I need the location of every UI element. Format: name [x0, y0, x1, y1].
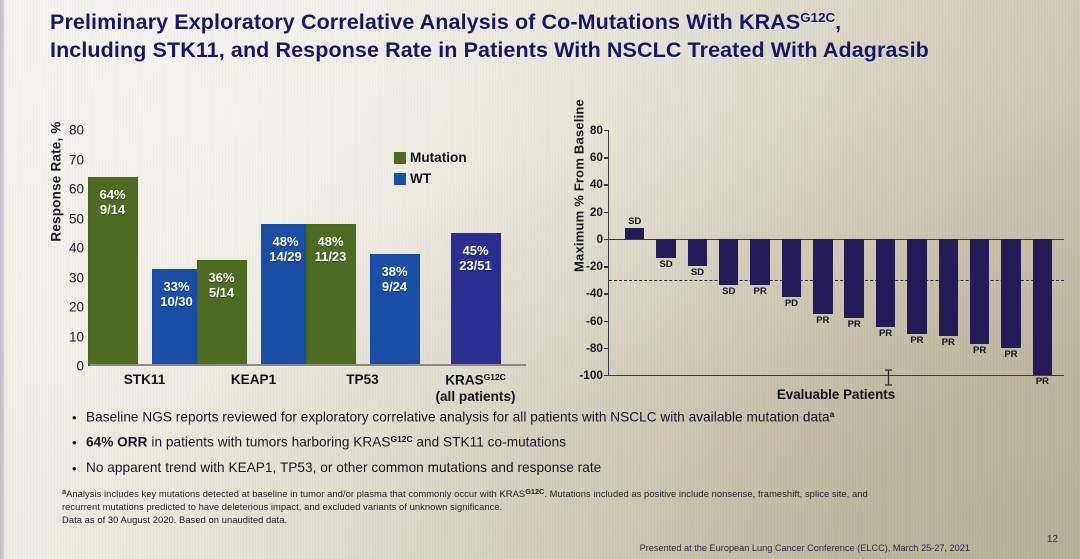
conference-attribution: Presented at the European Lung Cancer Co… [640, 543, 970, 553]
list-item: • Baseline NGS reports reviewed for expl… [72, 409, 1002, 426]
right-chart-x-axis-title: Evaluable Patients [608, 387, 1064, 402]
bullet-text-1: Baseline NGS reports reviewed for explor… [86, 409, 834, 426]
bar-value-label: 38%9/24 [370, 264, 420, 294]
right-chart-y-tick: 40 [590, 177, 603, 191]
bar-value-label: 48%14/29 [261, 234, 311, 264]
bullet-2-post: and STK11 co-mutations [413, 435, 567, 450]
footnote-line1-pre: Analysis includes key mutations detected… [66, 488, 525, 499]
waterfall-bar [970, 239, 989, 344]
slide-title: Preliminary Exploratory Correlative Anal… [50, 9, 1055, 65]
left-chart-x-label-kras: KRASG12C(all patients) [431, 372, 521, 406]
bar-kras-g12c-(all-patients)-all: 45%23/51 [451, 233, 501, 366]
bar-value-label: 48%11/23 [306, 234, 356, 264]
waterfall-bar [1001, 239, 1020, 348]
left-chart-legend: Mutation WT [394, 150, 467, 192]
right-chart-zero-line [609, 239, 1064, 240]
footnote-line1-superscript: G12C [525, 487, 544, 496]
title-line-1-superscript: G12C [800, 10, 835, 25]
legend-item-mutation: Mutation [394, 150, 467, 165]
left-chart-baseline [90, 364, 526, 366]
bar-value-label: 36%5/14 [197, 270, 247, 300]
left-chart-y-tick: 50 [40, 211, 84, 226]
right-chart-plot-area: 806040200-20-40-60-80-100SDSDSDSDPRPDPRP… [608, 130, 1064, 376]
bar-keap1-mutation: 36%5/14 [197, 260, 247, 366]
left-chart-y-tick: 70 [40, 152, 84, 167]
bullet-dot-icon: • [72, 460, 86, 477]
left-chart-y-tick: 80 [40, 123, 84, 138]
waterfall-bar [688, 239, 707, 266]
bar-value-label: 45%23/51 [451, 243, 501, 273]
waterfall-bar [813, 239, 832, 314]
right-chart-y-tick: 80 [590, 123, 603, 137]
bullet-1-superscript: a [830, 409, 835, 419]
bar-tp53-wt: 38%9/24 [370, 254, 420, 366]
bullet-2-superscript: G12C [391, 434, 413, 444]
right-chart-y-tick: -80 [586, 341, 603, 355]
footnote-line1-post: . Mutations included as positive include… [544, 488, 867, 499]
page-number: 12 [1047, 534, 1058, 545]
title-line-1-pre: Preliminary Exploratory Correlative Anal… [50, 10, 800, 34]
slide-canvas: Preliminary Exploratory Correlative Anal… [0, 0, 1080, 559]
bar-tp53-mutation: 48%11/23 [306, 224, 356, 366]
right-chart-y-tick: 60 [590, 150, 603, 164]
waterfall-bar [719, 239, 738, 285]
left-chart-y-tick: 20 [40, 300, 84, 315]
waterfall-chart: Maximum % From Baseline 806040200-20-40-… [548, 122, 1068, 404]
waterfall-response-label: PD [773, 298, 810, 309]
waterfall-response-label: SD [679, 267, 716, 278]
waterfall-bar [782, 239, 801, 298]
legend-swatch-wt [394, 173, 406, 185]
waterfall-response-label: PR [1024, 376, 1061, 387]
bullet-2-bold: 64% ORR [86, 435, 148, 450]
bar-value-label: 64%9/14 [88, 187, 138, 217]
bar-value-label: 33%10/30 [152, 279, 202, 309]
bullet-list: • Baseline NGS reports reviewed for expl… [72, 409, 1002, 485]
bullet-2-text: in patients with tumors harboring KRAS [148, 435, 391, 450]
list-item: • 64% ORR in patients with tumors harbor… [72, 434, 1002, 451]
i-beam-icon [884, 369, 893, 386]
legend-item-wt: WT [394, 171, 467, 186]
left-chart-y-tick: 10 [40, 329, 84, 344]
waterfall-bar [939, 239, 958, 336]
left-chart-y-tick: 40 [40, 241, 84, 256]
left-chart-y-tick: 60 [40, 182, 84, 197]
waterfall-response-label: SD [616, 216, 653, 227]
waterfall-bar [625, 228, 644, 239]
right-chart-y-tick: -40 [586, 286, 603, 300]
waterfall-bar [656, 239, 675, 258]
waterfall-bar [844, 239, 863, 318]
right-chart-reference-line [609, 280, 1064, 281]
text-cursor-icon [884, 369, 893, 386]
legend-swatch-mutation [394, 152, 406, 164]
waterfall-response-label: PR [741, 286, 778, 297]
title-line-2: Including STK11, and Response Rate in Pa… [50, 38, 929, 62]
waterfall-bar [876, 239, 895, 327]
bullet-dot-icon: • [72, 434, 86, 451]
bar-keap1-wt: 48%14/29 [261, 224, 311, 366]
legend-label-mutation: Mutation [410, 150, 467, 165]
right-chart-y-tick: -60 [586, 314, 603, 328]
bar-stk11-wt: 33%10/30 [152, 269, 202, 366]
right-chart-y-axis-title: Maximum % From Baseline [572, 71, 587, 301]
footnote: aAnalysis includes key mutations detecte… [62, 487, 1022, 527]
left-chart-x-label-tp53: TP53 [286, 372, 440, 389]
footnote-line2: recurrent mutations predicted to have de… [62, 501, 502, 512]
bullet-3-text: No apparent trend with KEAP1, TP53, or o… [86, 460, 601, 475]
bullet-dot-icon: • [72, 409, 86, 426]
legend-label-wt: WT [410, 171, 431, 186]
title-line-1-post: , [835, 10, 841, 34]
bullet-text-2: 64% ORR in patients with tumors harborin… [86, 434, 566, 451]
orr-bar-chart: Response Rate, % 64%9/1433%10/3036%5/144… [28, 122, 528, 402]
waterfall-bar [1033, 239, 1052, 375]
waterfall-bar [750, 239, 769, 285]
right-chart-y-tick: 0 [596, 232, 603, 246]
footnote-line3: Data as of 30 August 2020. Based on unau… [62, 514, 287, 525]
right-chart-y-tick: -20 [586, 259, 603, 273]
bullet-text-3: No apparent trend with KEAP1, TP53, or o… [86, 460, 601, 477]
waterfall-response-label: PR [992, 349, 1029, 360]
left-chart-y-tick: 30 [40, 270, 84, 285]
right-chart-y-tick: 20 [590, 205, 603, 219]
waterfall-bar [907, 239, 926, 334]
list-item: • No apparent trend with KEAP1, TP53, or… [72, 460, 1002, 477]
slide-left-edge [0, 0, 5, 559]
right-chart-y-tick: -100 [579, 368, 603, 382]
bullet-1-text: Baseline NGS reports reviewed for explor… [86, 409, 830, 424]
bar-stk11-mutation: 64%9/14 [88, 177, 138, 366]
